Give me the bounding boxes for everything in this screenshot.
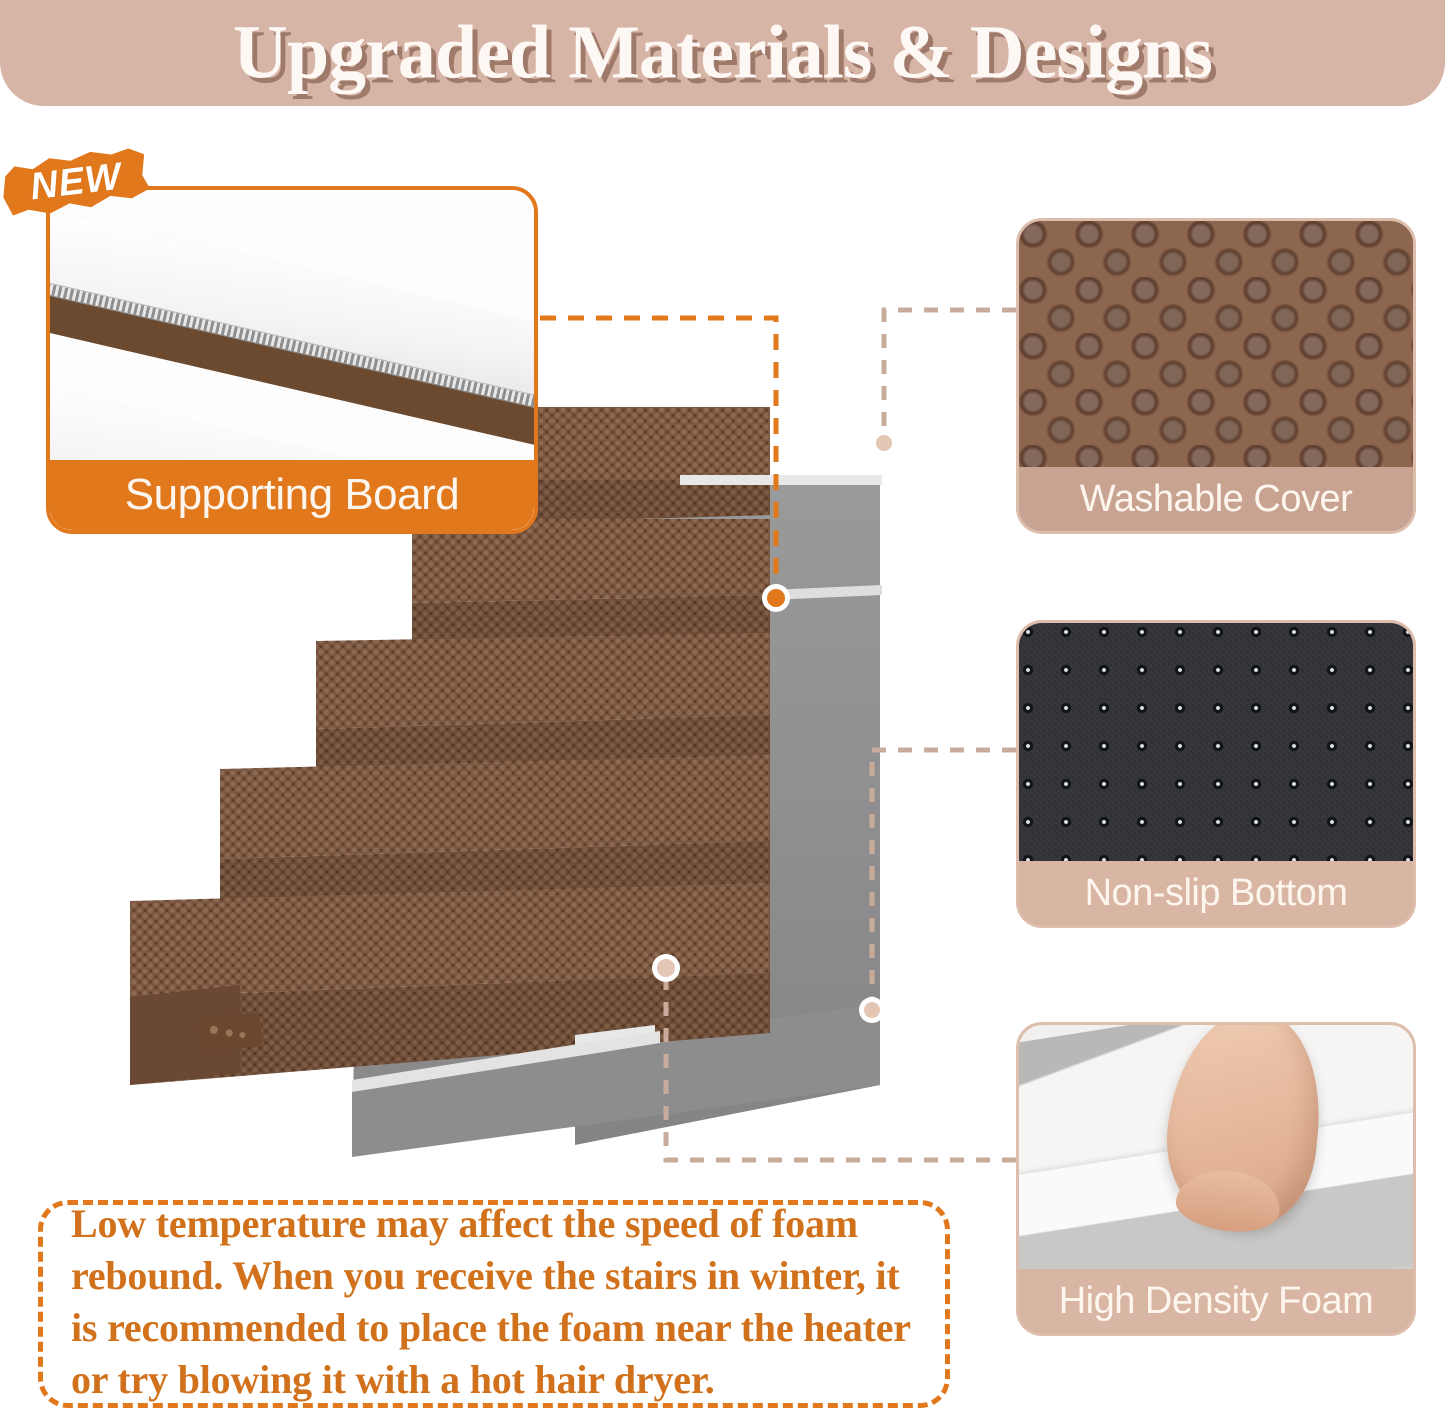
header-banner: Upgraded Materials & Designs [0,0,1445,106]
washable-cover-label: Washable Cover [1019,467,1413,531]
high-density-foam-photo [1019,1025,1413,1269]
supporting-board-label-text: Supporting Board [125,470,459,520]
feature-card-non-slip-bottom: Non-slip Bottom [1016,620,1416,928]
supporting-board-label: Supporting Board [50,460,534,530]
infographic-page: Upgraded Materials & Designs [0,0,1445,1428]
non-slip-bottom-label: Non-slip Bottom [1019,861,1413,925]
feature-card-high-density-foam: High Density Foam [1016,1022,1416,1336]
new-badge-text: NEW [0,141,153,223]
winter-foam-note-text: Low temperature may affect the speed of … [71,1198,917,1406]
washable-cover-swatch-icon [1019,221,1413,467]
non-slip-bottom-swatch-icon [1019,623,1413,861]
new-badge: NEW [2,150,150,214]
winter-foam-note: Low temperature may affect the speed of … [38,1200,950,1408]
brand-paw-tag [198,1013,262,1051]
supporting-board-card: Supporting Board [46,186,538,534]
page-title: Upgraded Materials & Designs [0,10,1445,97]
high-density-foam-label: High Density Foam [1019,1269,1413,1333]
feature-card-washable-cover: Washable Cover [1016,218,1416,534]
